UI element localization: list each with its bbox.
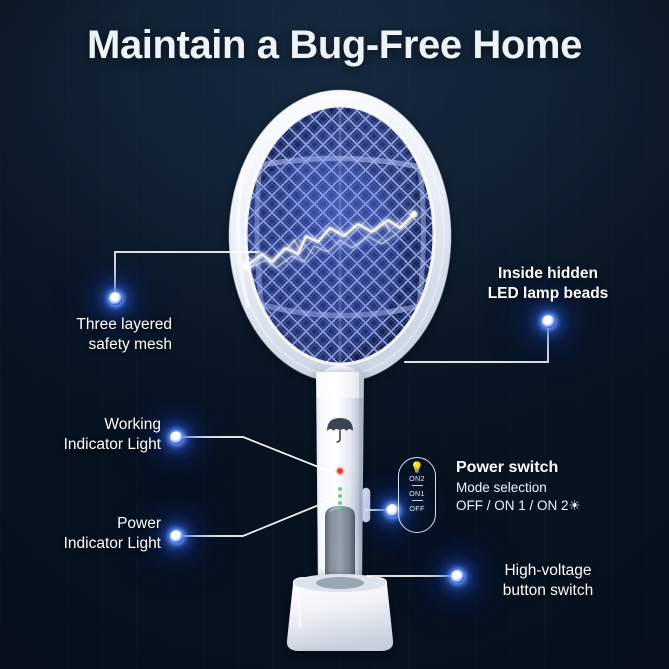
power-switch-modes: OFF / ON 1 / ON 2☀ (456, 497, 581, 515)
marker-dot-power-indicator-light[interactable] (170, 530, 183, 543)
badge-divider (412, 485, 423, 486)
callout-power-indicator-light: Power Indicator Light (0, 514, 161, 554)
leader-power-indicator-light (176, 500, 331, 536)
callout-three-layered-safety-mesh: Three layered safety mesh (0, 315, 172, 355)
callout-line: Three layered (0, 315, 172, 335)
leader-inside-hidden-led-lamp-beads (405, 325, 548, 362)
infographic-canvas: Maintain a Bug-Free Home (0, 0, 669, 669)
badge-label-on2: ON2 (409, 474, 425, 483)
callout-working-indicator-light: Working Indicator Light (0, 415, 161, 455)
marker-dot-power-switch[interactable] (386, 504, 399, 517)
leader-working-indicator-light (176, 437, 331, 472)
sun-burst-icon: ☀ (569, 498, 581, 513)
power-switch-subtitle: Mode selection (456, 479, 581, 497)
callout-power-switch: Power switch Mode selection OFF / ON 1 /… (456, 458, 581, 514)
racket-head (229, 90, 451, 382)
callout-line: button switch (458, 581, 638, 601)
marker-dot-three-layered-safety-mesh[interactable] (109, 292, 122, 305)
racket-handle (316, 372, 370, 608)
callout-line: LED lamp beads (448, 284, 648, 304)
marker-dot-inside-hidden-led-lamp-beads[interactable] (542, 315, 555, 328)
badge-divider (412, 500, 423, 501)
callout-line: Power (0, 514, 161, 534)
badge-label-off: OFF (409, 504, 424, 513)
charging-base (287, 574, 393, 651)
callout-line: High-voltage (458, 561, 638, 581)
power-switch-mode-badge[interactable]: 💡 ON2 ON1 OFF (398, 457, 436, 533)
callout-line: Indicator Light (0, 435, 161, 455)
marker-dot-working-indicator-light[interactable] (170, 431, 183, 444)
callout-line: Working (0, 415, 161, 435)
power-switch-modes-text: OFF / ON 1 / ON 2 (456, 498, 569, 513)
power-switch-title: Power switch (456, 458, 581, 479)
callout-inside-hidden-led-lamp-beads: Inside hidden LED lamp beads (448, 264, 648, 304)
lamp-icon: 💡 (410, 463, 424, 473)
callout-line: safety mesh (0, 335, 172, 355)
callout-high-voltage-button-switch: High-voltage button switch (458, 561, 638, 601)
callout-line: Indicator Light (0, 534, 161, 554)
badge-label-on1: ON1 (409, 489, 425, 498)
callout-line: Inside hidden (448, 264, 648, 284)
